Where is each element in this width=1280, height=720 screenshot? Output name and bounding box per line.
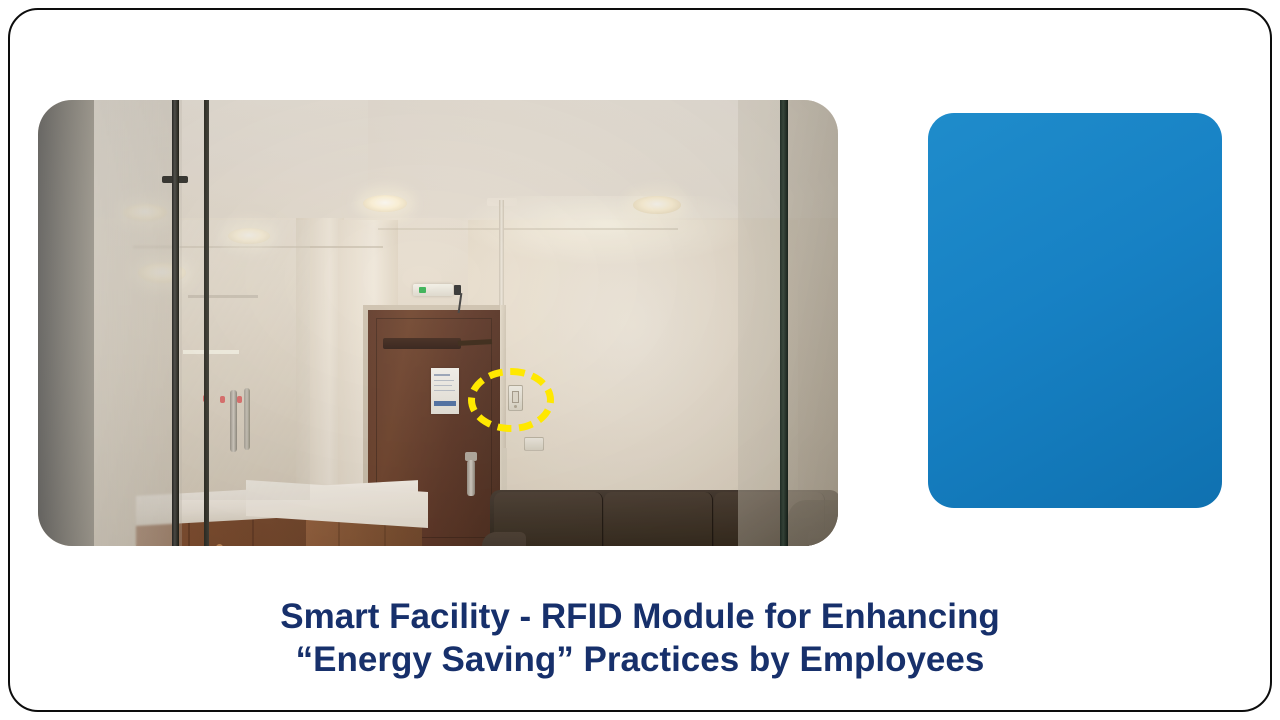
caption-line-2: “Energy Saving” Practices by Employees bbox=[0, 639, 1280, 682]
photo-vignette bbox=[38, 100, 838, 546]
highlight-ellipse-annotation bbox=[468, 368, 554, 432]
caption-line-1: Smart Facility - RFID Module for Enhanci… bbox=[0, 596, 1280, 639]
lobby-photo bbox=[38, 100, 838, 546]
blue-backdrop-panel: Smart Home & Facility RFID Module bbox=[928, 113, 1222, 508]
slide-caption: Smart Facility - RFID Module for Enhanci… bbox=[0, 596, 1280, 681]
slide: Smart Home & Facility RFID Module bbox=[0, 0, 1280, 720]
